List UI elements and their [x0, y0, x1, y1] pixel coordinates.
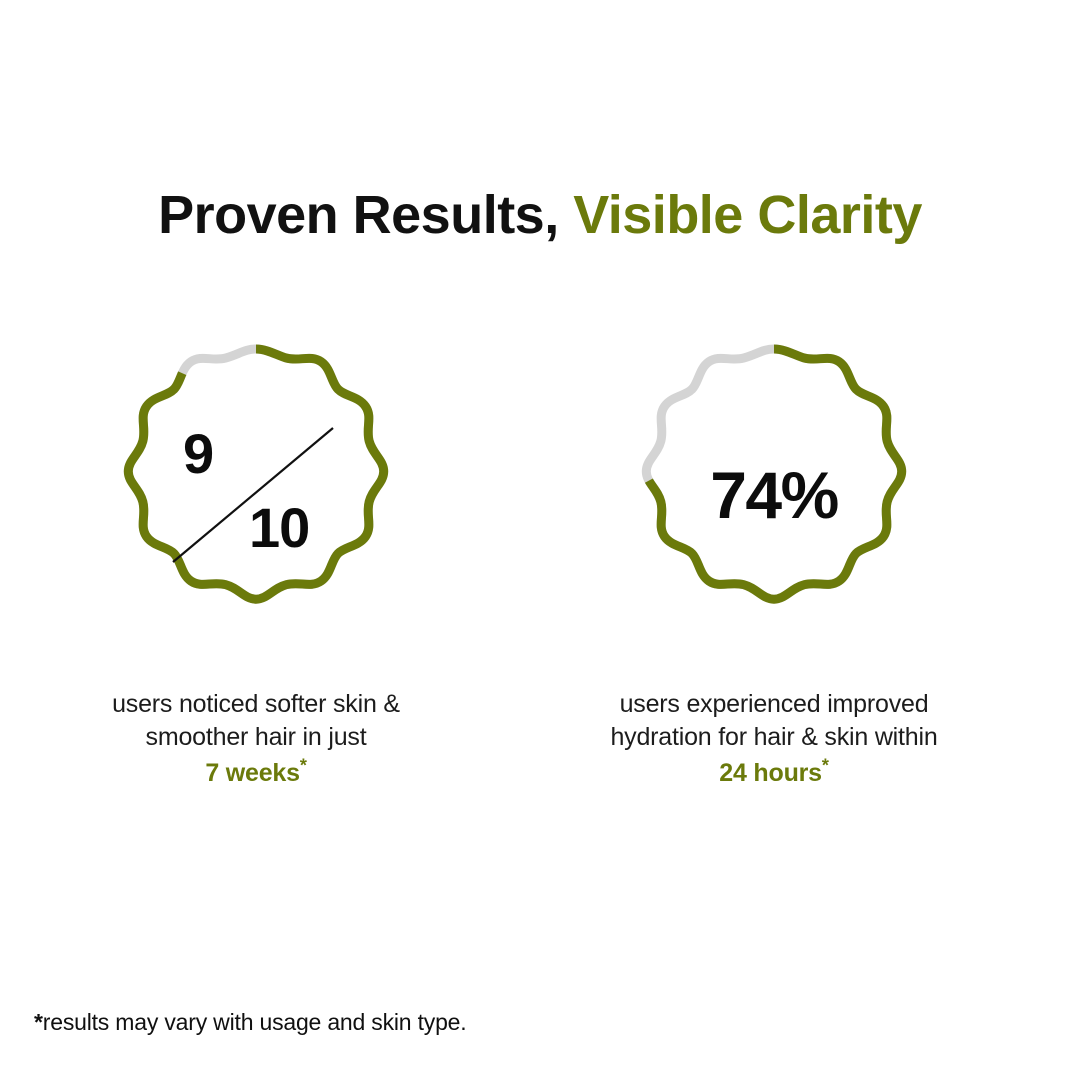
page-title-dark-part: Proven Results,: [158, 185, 559, 245]
stat-block-improved-hydration: 74% users experienced improved hydration…: [559, 330, 989, 790]
page-title: Proven Results, Visible Clarity: [0, 186, 1080, 245]
caption-line-2: smoother hair in just: [146, 723, 367, 751]
page-title-green-part: Visible Clarity: [573, 185, 922, 245]
stat-caption-softer-skin: users noticed softer skin & smoother hai…: [66, 688, 446, 790]
ring-progress: [128, 349, 383, 599]
scalloped-ring-icon: [91, 330, 421, 660]
caption-highlight-asterisk: *: [822, 756, 829, 776]
caption-highlight-text: 7 weeks: [205, 759, 300, 787]
stats-row: 9 10 users noticed softer skin & smoothe…: [0, 330, 1080, 790]
footnote-text: results may vary with usage and skin typ…: [43, 1009, 467, 1035]
ring-progress: [646, 349, 901, 599]
footnote-disclaimer: *results may vary with usage and skin ty…: [34, 1009, 466, 1036]
progress-badge-improved-hydration: 74%: [609, 330, 939, 660]
ring-track: [646, 349, 901, 599]
infographic-page: Proven Results, Visible Clarity: [0, 0, 1080, 1080]
caption-highlight-asterisk: *: [300, 756, 307, 776]
stat-caption-improved-hydration: users experienced improved hydration for…: [559, 688, 989, 790]
caption-highlight: 24 hours*: [559, 757, 989, 790]
ring-track: [128, 349, 383, 599]
caption-highlight: 7 weeks*: [66, 757, 446, 790]
caption-highlight-text: 24 hours: [719, 759, 822, 787]
footnote-asterisk: *: [34, 1009, 43, 1035]
caption-line-1: users noticed softer skin &: [112, 690, 400, 718]
stat-block-softer-skin: 9 10 users noticed softer skin & smoothe…: [91, 330, 421, 790]
progress-badge-softer-skin: 9 10: [91, 330, 421, 660]
scalloped-ring-icon: [609, 330, 939, 660]
caption-line-2: hydration for hair & skin within: [610, 723, 937, 751]
caption-line-1: users experienced improved: [620, 690, 929, 718]
